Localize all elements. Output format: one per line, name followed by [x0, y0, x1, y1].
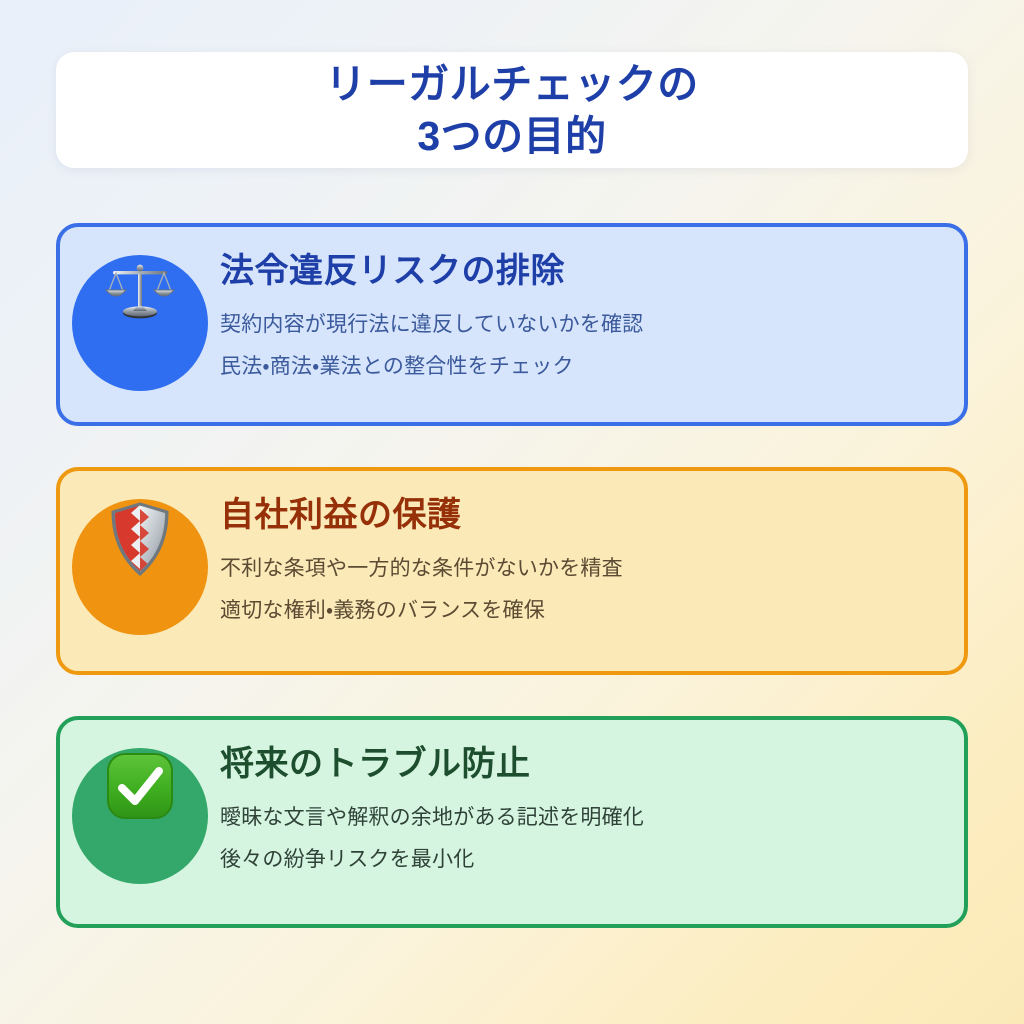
card-points-trouble-prevention: 曖昧な文言や解釈の余地がある記述を明確化 後々の紛争リスクを最小化: [220, 801, 934, 877]
card-point: 契約内容が現行法に違反していないかを確認: [220, 308, 934, 342]
card-text-trouble-prevention: 将来のトラブル防止 曖昧な文言や解釈の余地がある記述を明確化 後々の紛争リスクを…: [220, 720, 964, 885]
balance-scale-icon: [101, 257, 179, 340]
icon-circle-self-interest: [72, 499, 208, 635]
card-heading-self-interest: 自社利益の保護: [220, 495, 934, 536]
card-heading-trouble-prevention: 将来のトラブル防止: [220, 744, 934, 785]
card-point: 曖昧な文言や解釈の余地がある記述を明確化: [220, 801, 934, 835]
card-point: 民法・商法・業法との整合性をチェック: [220, 350, 934, 384]
card-text-self-interest: 自社利益の保護 不利な条項や一方的な条件がないかを精査 適切な権利・義務のバラン…: [220, 471, 964, 636]
title-card: リーガルチェックの 3つの目的: [56, 52, 968, 168]
card-point: 不利な条項や一方的な条件がないかを精査: [220, 552, 934, 586]
card-points-self-interest: 不利な条項や一方的な条件がないかを精査 適切な権利・義務のバランスを確保: [220, 552, 934, 628]
card-point: 後々の紛争リスクを最小化: [220, 843, 934, 877]
card-heading-compliance: 法令違反リスクの排除: [220, 251, 934, 292]
purpose-card-self-interest: 自社利益の保護 不利な条項や一方的な条件がないかを精査 適切な権利・義務のバラン…: [56, 467, 968, 675]
purpose-card-trouble-prevention: 将来のトラブル防止 曖昧な文言や解釈の余地がある記述を明確化 後々の紛争リスクを…: [56, 716, 968, 928]
page-title-line-1: リーガルチェックの: [325, 58, 699, 110]
icon-circle-compliance: [72, 255, 208, 391]
icon-container-self-interest: [60, 471, 220, 635]
icon-container-trouble-prevention: [60, 720, 220, 884]
card-points-compliance: 契約内容が現行法に違反していないかを確認 民法・商法・業法との整合性をチェック: [220, 308, 934, 384]
check-mark-button-icon: [104, 750, 176, 827]
card-text-compliance: 法令違反リスクの排除 契約内容が現行法に違反していないかを確認 民法・商法・業法…: [220, 227, 964, 392]
icon-circle-trouble-prevention: [72, 748, 208, 884]
purpose-card-compliance: 法令違反リスクの排除 契約内容が現行法に違反していないかを確認 民法・商法・業法…: [56, 223, 968, 426]
card-point: 適切な権利・義務のバランスを確保: [220, 594, 934, 628]
icon-container-compliance: [60, 227, 220, 391]
shield-icon: [109, 501, 171, 582]
infographic-root: リーガルチェックの 3つの目的: [0, 0, 1024, 1024]
page-title-line-2: 3つの目的: [417, 110, 606, 162]
